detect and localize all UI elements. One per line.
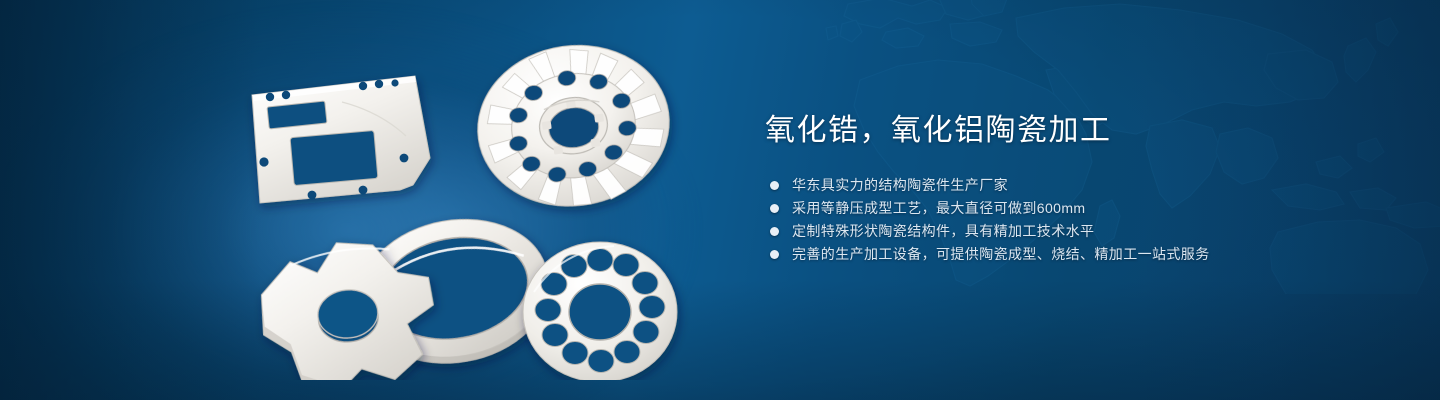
bullet-dot-icon: [770, 227, 779, 236]
list-item: 华东具实力的结构陶瓷件生产厂家: [765, 174, 1385, 197]
ceramic-bladed-impeller: [467, 40, 679, 218]
ceramic-products-image: [230, 40, 700, 380]
bullet-label: 华东具实力的结构陶瓷件生产厂家: [792, 174, 1008, 197]
ceramic-holed-disc: [523, 242, 677, 380]
bullet-label: 完善的生产加工设备，可提供陶瓷成型、烧结、精加工一站式服务: [792, 243, 1210, 266]
ceramic-flat-plate: [252, 76, 430, 203]
list-item: 定制特殊形状陶瓷结构件，具有精加工技术水平: [765, 220, 1385, 243]
bullet-dot-icon: [770, 204, 779, 213]
bullet-label: 采用等静压成型工艺，最大直径可做到600mm: [792, 197, 1085, 220]
banner-headline: 氧化锆，氧化铝陶瓷加工: [765, 112, 1385, 150]
list-item: 完善的生产加工设备，可提供陶瓷成型、烧结、精加工一站式服务: [765, 243, 1385, 266]
banner-feature-list: 华东具实力的结构陶瓷件生产厂家 采用等静压成型工艺，最大直径可做到600mm 定…: [765, 174, 1385, 266]
bullet-label: 定制特殊形状陶瓷结构件，具有精加工技术水平: [792, 220, 1094, 243]
bullet-dot-icon: [770, 181, 779, 190]
bullet-dot-icon: [770, 250, 779, 259]
hero-banner: 氧化锆，氧化铝陶瓷加工 华东具实力的结构陶瓷件生产厂家 采用等静压成型工艺，最大…: [0, 0, 1440, 400]
list-item: 采用等静压成型工艺，最大直径可做到600mm: [765, 197, 1385, 220]
banner-content: 氧化锆，氧化铝陶瓷加工 华东具实力的结构陶瓷件生产厂家 采用等静压成型工艺，最大…: [765, 112, 1385, 266]
